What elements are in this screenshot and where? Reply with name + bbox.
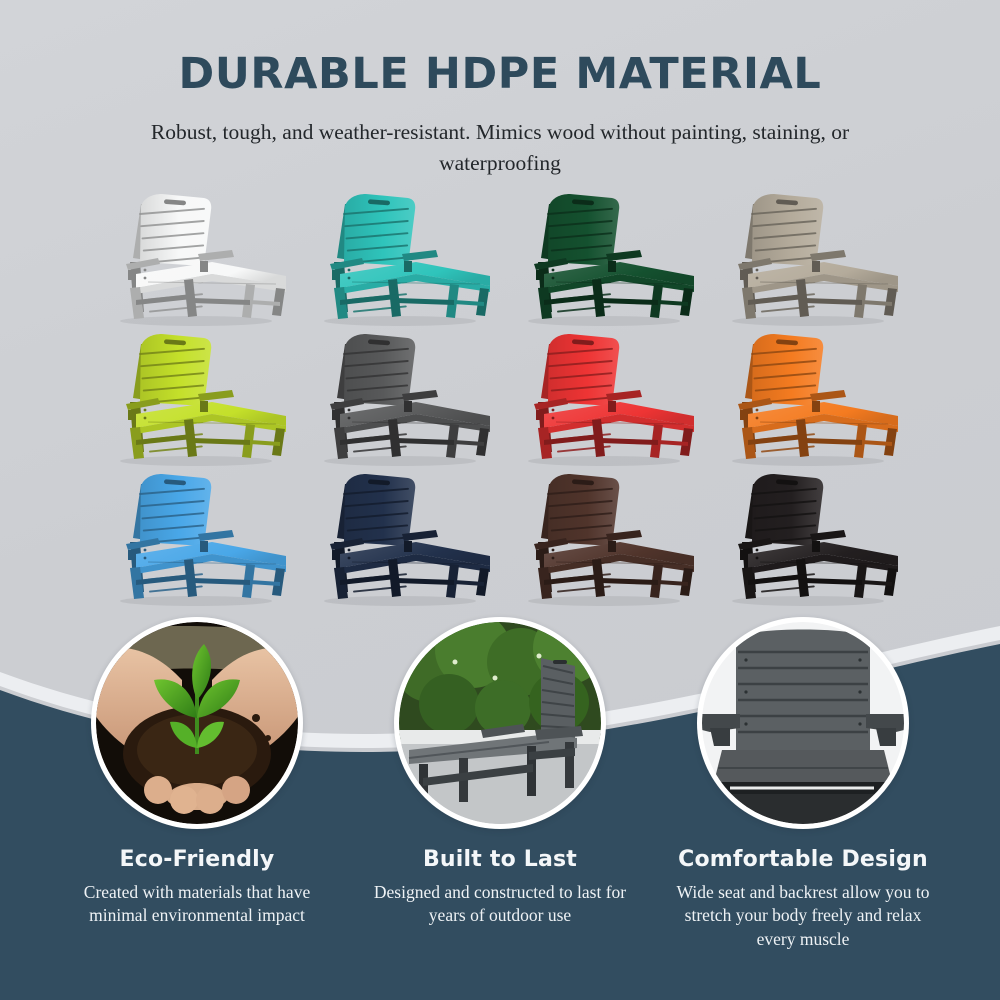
color-swatch-light-blue[interactable] — [96, 468, 300, 608]
chaise-lounge-illustration — [508, 328, 704, 468]
infographic-page: DURABLE HDPE MATERIAL Robust, tough, and… — [0, 0, 1000, 1000]
color-swatch-red[interactable] — [504, 328, 708, 468]
color-swatch-dark-gray[interactable] — [300, 328, 504, 468]
color-swatch-lime-green[interactable] — [96, 328, 300, 468]
feature-image-frame — [697, 617, 909, 829]
color-swatch-navy-blue[interactable] — [300, 468, 504, 608]
feature-eco-friendly: Eco-Friendly Created with materials that… — [52, 617, 342, 987]
chaise-lounge-illustration — [712, 468, 908, 608]
chaise-lounge-illustration — [304, 328, 500, 468]
feature-list: Eco-Friendly Created with materials that… — [0, 617, 1000, 987]
chaise-lounge-illustration — [712, 328, 908, 468]
chaise-lounge-illustration — [304, 468, 500, 608]
chaise-lounge-illustration — [304, 188, 500, 328]
chaise-lounge-illustration — [508, 188, 704, 328]
chaise-lounge-illustration — [508, 468, 704, 608]
color-swatch-taupe[interactable] — [708, 188, 912, 328]
color-swatch-brown[interactable] — [504, 468, 708, 608]
feature-title: Eco-Friendly — [52, 847, 342, 872]
color-swatch-white[interactable] — [96, 188, 300, 328]
feature-title: Comfortable Design — [658, 847, 948, 872]
chaise-lounge-illustration — [100, 188, 296, 328]
page-title: DURABLE HDPE MATERIAL — [0, 52, 1000, 97]
chaise-lounge-illustration — [712, 188, 908, 328]
chair-backrest-closeup-photo — [702, 622, 904, 824]
feature-description: Wide seat and backrest allow you to stre… — [658, 881, 948, 951]
color-swatch-orange[interactable] — [708, 328, 912, 468]
color-swatch-black[interactable] — [708, 468, 912, 608]
hands-holding-seedling-photo — [96, 622, 298, 824]
feature-built-to-last: Built to Last Designed and constructed t… — [355, 617, 645, 987]
feature-comfortable-design: Comfortable Design Wide seat and backres… — [658, 617, 948, 987]
color-swatch-turquoise[interactable] — [300, 188, 504, 328]
page-subtitle: Robust, tough, and weather-resistant. Mi… — [150, 117, 850, 178]
chaise-lounge-illustration — [100, 328, 296, 468]
chaise-lounge-illustration — [100, 468, 296, 608]
feature-description: Designed and constructed to last for yea… — [355, 881, 645, 928]
feature-image-frame — [91, 617, 303, 829]
feature-title: Built to Last — [355, 847, 645, 872]
color-swatch-grid — [96, 188, 912, 608]
feature-description: Created with materials that have minimal… — [52, 881, 342, 928]
color-swatch-dark-green[interactable] — [504, 188, 708, 328]
gray-chaise-lounge-outdoors-photo — [399, 622, 601, 824]
header: DURABLE HDPE MATERIAL Robust, tough, and… — [0, 0, 1000, 178]
feature-image-frame — [394, 617, 606, 829]
